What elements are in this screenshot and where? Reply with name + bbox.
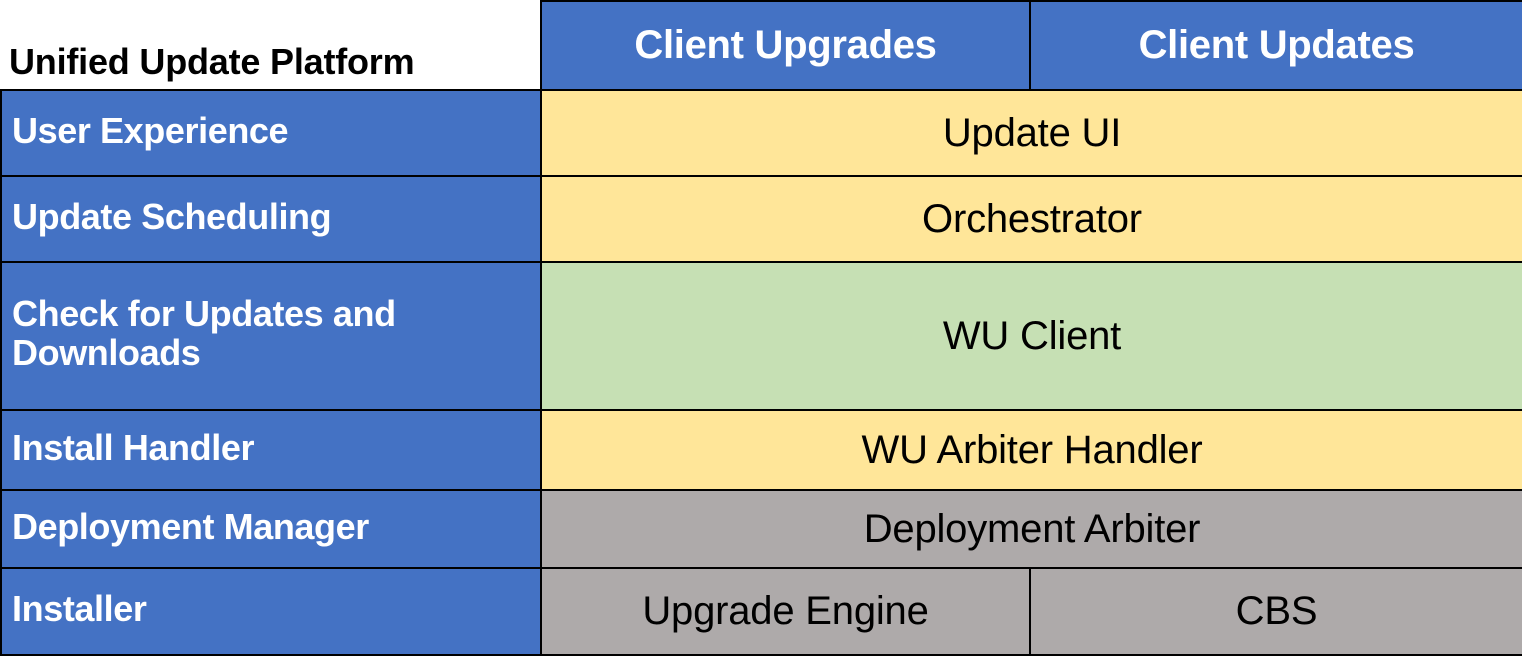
stage-label-text: Install Handler: [12, 429, 536, 468]
component-cell-text: Upgrade Engine: [542, 589, 1029, 634]
component-cell-text: WU Arbiter Handler: [542, 428, 1522, 473]
component-cell-upgrade-engine: Upgrade Engine: [541, 568, 1030, 655]
component-cell-text: CBS: [1031, 589, 1522, 634]
table-row: Installer Upgrade Engine CBS: [1, 568, 1522, 655]
table-row: Install Handler WU Arbiter Handler: [1, 410, 1522, 490]
stage-label-user-experience: User Experience: [1, 90, 541, 176]
component-cell-wu-client: WU Client: [541, 262, 1522, 410]
table-row: User Experience Update UI: [1, 90, 1522, 176]
stage-label-text: Update Scheduling: [12, 198, 536, 237]
stage-label-check-for-updates-and-downloads: Check for Updates and Downloads: [1, 262, 541, 410]
stage-label-installer: Installer: [1, 568, 541, 655]
stage-label-text: Installer: [12, 590, 536, 629]
component-cell-text: Deployment Arbiter: [542, 507, 1522, 552]
column-header-client-updates: Client Updates: [1030, 1, 1522, 90]
stage-label-install-handler: Install Handler: [1, 410, 541, 490]
column-header-client-upgrades-label: Client Upgrades: [542, 23, 1029, 68]
table-title-cell: Unified Update Platform: [1, 1, 541, 90]
component-cell-text: WU Client: [542, 314, 1522, 359]
component-cell-update-ui: Update UI: [541, 90, 1522, 176]
column-header-client-updates-label: Client Updates: [1031, 23, 1522, 68]
stage-label-text: Deployment Manager: [12, 508, 536, 547]
component-cell-cbs: CBS: [1030, 568, 1522, 655]
stage-label-update-scheduling: Update Scheduling: [1, 176, 541, 262]
component-cell-text: Update UI: [542, 111, 1522, 156]
table-row: Update Scheduling Orchestrator: [1, 176, 1522, 262]
stage-label-deployment-manager: Deployment Manager: [1, 490, 541, 568]
table-row: Check for Updates and Downloads WU Clien…: [1, 262, 1522, 410]
table-title-text: Unified Update Platform: [9, 41, 534, 83]
unified-update-platform-table: Unified Update Platform Client Upgrades …: [0, 0, 1522, 656]
component-cell-wu-arbiter-handler: WU Arbiter Handler: [541, 410, 1522, 490]
component-cell-text: Orchestrator: [542, 197, 1522, 242]
component-cell-deployment-arbiter: Deployment Arbiter: [541, 490, 1522, 568]
column-header-client-upgrades: Client Upgrades: [541, 1, 1030, 90]
stage-label-text: User Experience: [12, 112, 536, 151]
table-row: Deployment Manager Deployment Arbiter: [1, 490, 1522, 568]
table-header-row: Unified Update Platform Client Upgrades …: [1, 1, 1522, 90]
component-cell-orchestrator: Orchestrator: [541, 176, 1522, 262]
stage-label-text: Check for Updates and Downloads: [12, 295, 536, 373]
